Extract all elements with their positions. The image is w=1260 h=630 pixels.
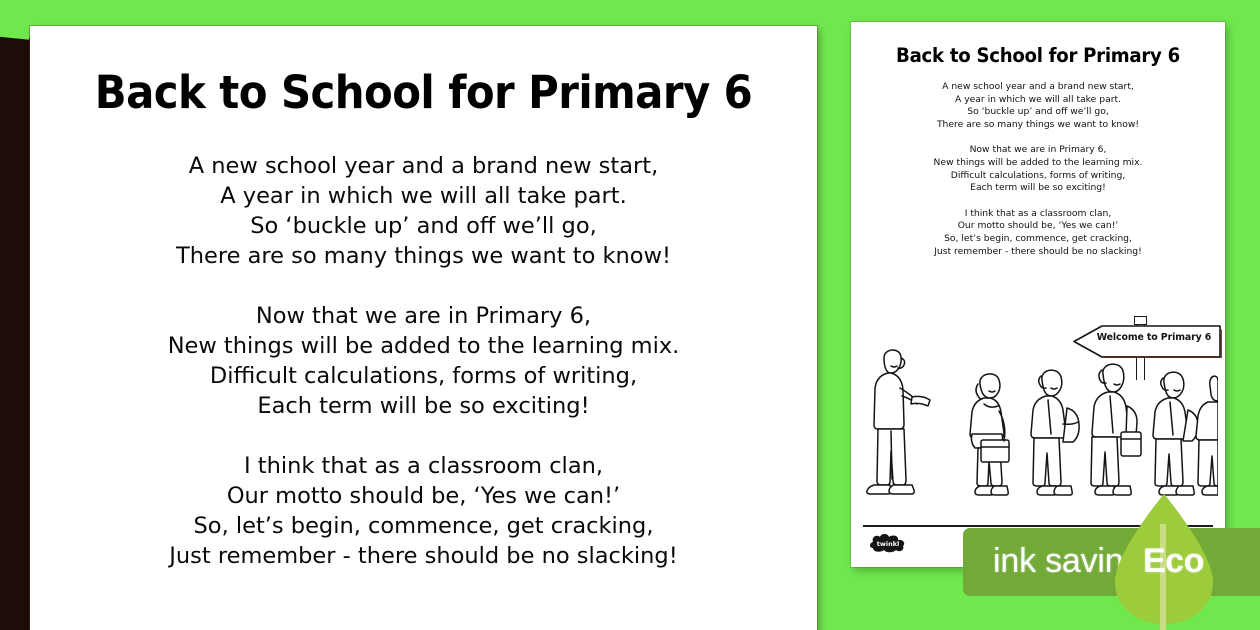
poem-line: Our motto should be, ‘Yes we can!’ xyxy=(851,220,1225,233)
screenshot-root: Back to School for Primary 6 A new schoo… xyxy=(0,0,1260,630)
twinkl-logo-icon: twinkl xyxy=(867,533,909,553)
svg-text:twinkl: twinkl xyxy=(877,540,900,548)
poem-stanza: A new school year and a brand new start,… xyxy=(851,81,1225,131)
poem-line: A new school year and a brand new start, xyxy=(851,81,1225,94)
poem-line: New things will be added to the learning… xyxy=(851,157,1225,170)
thumbnail-poem-body: A new school year and a brand new start,… xyxy=(851,81,1225,258)
poem-line: New things will be added to the learning… xyxy=(30,331,817,361)
poem-stanza: I think that as a classroom clan, Our mo… xyxy=(30,451,817,571)
poem-line: So ‘buckle up’ and off we’ll go, xyxy=(851,106,1225,119)
poem-line: So, let’s begin, commence, get cracking, xyxy=(30,511,817,541)
poem-line: I think that as a classroom clan, xyxy=(851,208,1225,221)
poem-line: A new school year and a brand new start, xyxy=(30,151,817,181)
poem-line: So ‘buckle up’ and off we’ll go, xyxy=(30,211,817,241)
signpost-cap-top xyxy=(1134,316,1147,325)
poem-line: Just remember - there should be no slack… xyxy=(30,541,817,571)
signpost-illustration-clipped xyxy=(618,622,640,630)
poem-line: A year in which we will all take part. xyxy=(851,94,1225,107)
page-title: Back to School for Primary 6 xyxy=(58,66,790,119)
thumbnail-title: Back to School for Primary 6 xyxy=(864,44,1212,67)
poem-stanza: Now that we are in Primary 6, New things… xyxy=(851,144,1225,194)
poem-line: Our motto should be, ‘Yes we can!’ xyxy=(30,481,817,511)
poem-line: There are so many things we want to know… xyxy=(30,241,817,271)
poem-line: Difficult calculations, forms of writing… xyxy=(30,361,817,391)
poem-line: A year in which we will all take part. xyxy=(30,181,817,211)
ink-saving-eco-badge: ink saving Eco xyxy=(963,528,1260,596)
poem-line: Now that we are in Primary 6, xyxy=(851,144,1225,157)
poem-line: So, let’s begin, commence, get cracking, xyxy=(851,233,1225,246)
poem-line: Just remember - there should be no slack… xyxy=(851,246,1225,259)
poem-body: A new school year and a brand new start,… xyxy=(30,151,817,571)
poem-line: Difficult calculations, forms of writing… xyxy=(851,170,1225,183)
poem-line: I think that as a classroom clan, xyxy=(30,451,817,481)
poem-line: Each term will be so exciting! xyxy=(30,391,817,421)
signpost-illustration: Welcome to Primary 6 xyxy=(1072,316,1222,380)
poem-line: Now that we are in Primary 6, xyxy=(30,301,817,331)
poem-stanza: Now that we are in Primary 6, New things… xyxy=(30,301,817,421)
main-worksheet-page[interactable]: Back to School for Primary 6 A new schoo… xyxy=(30,26,817,630)
poem-line: Each term will be so exciting! xyxy=(851,182,1225,195)
poem-stanza: I think that as a classroom clan, Our mo… xyxy=(851,208,1225,258)
eco-label: Eco xyxy=(1143,542,1204,581)
poem-line: There are so many things we want to know… xyxy=(851,119,1225,132)
poem-stanza: A new school year and a brand new start,… xyxy=(30,151,817,271)
signpost-label: Welcome to Primary 6 xyxy=(1094,332,1214,343)
